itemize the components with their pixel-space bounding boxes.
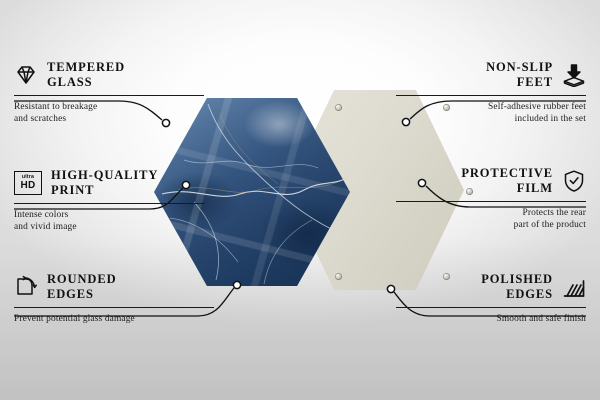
divider [14, 307, 214, 308]
divider [14, 203, 204, 204]
shield-check-icon [562, 169, 586, 193]
title-line-2: EDGES [47, 287, 117, 302]
feature-header: ROUNDED EDGES [14, 272, 214, 303]
rounded-corner-icon [14, 275, 38, 299]
title-line-1: ROUNDED [47, 272, 117, 287]
press-down-pad-icon [562, 63, 586, 87]
feature-title: HIGH-QUALITY PRINT [51, 168, 158, 199]
title-line-2: GLASS [47, 75, 125, 90]
divider [396, 307, 586, 308]
feature-header: PROTECTIVE FILM [396, 166, 586, 197]
subtitle-line-2: and scratches [14, 113, 204, 125]
title-line-2: FILM [461, 181, 553, 196]
hatched-triangle-icon [562, 275, 586, 299]
title-line-2: EDGES [481, 287, 553, 302]
subtitle-line-2: part of the product [396, 219, 586, 231]
feature-non-slip-feet[interactable]: NON-SLIP FEET Self-adhesive rubber feet … [396, 60, 586, 125]
feature-title: NON-SLIP FEET [486, 60, 553, 91]
feature-high-quality-print[interactable]: ultra HD HIGH-QUALITY PRINT Intense colo… [14, 168, 204, 233]
rubber-foot [335, 273, 342, 280]
feature-header: NON-SLIP FEET [396, 60, 586, 91]
subtitle-line-1: Protects the rear [396, 207, 586, 219]
subtitle-line-1: Resistant to breakage [14, 101, 204, 113]
feature-title: PROTECTIVE FILM [461, 166, 553, 197]
title-line-1: POLISHED [481, 272, 553, 287]
feature-header: ultra HD HIGH-QUALITY PRINT [14, 168, 204, 199]
diamond-icon [14, 63, 38, 87]
feature-protective-film[interactable]: PROTECTIVE FILM Protects the rear part o… [396, 166, 586, 231]
subtitle-line-1: Self-adhesive rubber feet [396, 101, 586, 113]
feature-subtitle: Protects the rear part of the product [396, 207, 586, 232]
feature-subtitle: Resistant to breakage and scratches [14, 101, 204, 126]
feature-subtitle: Smooth and safe finish [396, 313, 586, 325]
feature-title: ROUNDED EDGES [47, 272, 117, 303]
divider [14, 95, 204, 96]
subtitle-line-1: Intense colors [14, 209, 204, 221]
feature-subtitle: Self-adhesive rubber feet included in th… [396, 101, 586, 126]
subtitle-line-1: Prevent potential glass damage [14, 313, 214, 325]
infographic-canvas: TEMPERED GLASS Resistant to breakage and… [0, 0, 600, 400]
feature-polished-edges[interactable]: POLISHED EDGES Smooth and safe finish [396, 272, 586, 325]
rubber-foot [335, 104, 342, 111]
subtitle-line-2: included in the set [396, 113, 586, 125]
feature-tempered-glass[interactable]: TEMPERED GLASS Resistant to breakage and… [14, 60, 204, 125]
subtitle-line-1: Smooth and safe finish [396, 313, 586, 325]
feature-rounded-edges[interactable]: ROUNDED EDGES Prevent potential glass da… [14, 272, 214, 325]
title-line-1: TEMPERED [47, 60, 125, 75]
feature-title: POLISHED EDGES [481, 272, 553, 303]
title-line-1: PROTECTIVE [461, 166, 553, 181]
title-line-1: HIGH-QUALITY [51, 168, 158, 183]
ultra-hd-icon: ultra HD [14, 171, 42, 195]
subtitle-line-2: and vivid image [14, 221, 204, 233]
feature-subtitle: Intense colors and vivid image [14, 209, 204, 234]
feature-header: POLISHED EDGES [396, 272, 586, 303]
feature-subtitle: Prevent potential glass damage [14, 313, 214, 325]
divider [396, 201, 586, 202]
title-line-1: NON-SLIP [486, 60, 553, 75]
title-line-2: PRINT [51, 183, 158, 198]
feature-header: TEMPERED GLASS [14, 60, 204, 91]
divider [396, 95, 586, 96]
ultra-hd-large-label: HD [20, 181, 35, 191]
feature-title: TEMPERED GLASS [47, 60, 125, 91]
title-line-2: FEET [486, 75, 553, 90]
